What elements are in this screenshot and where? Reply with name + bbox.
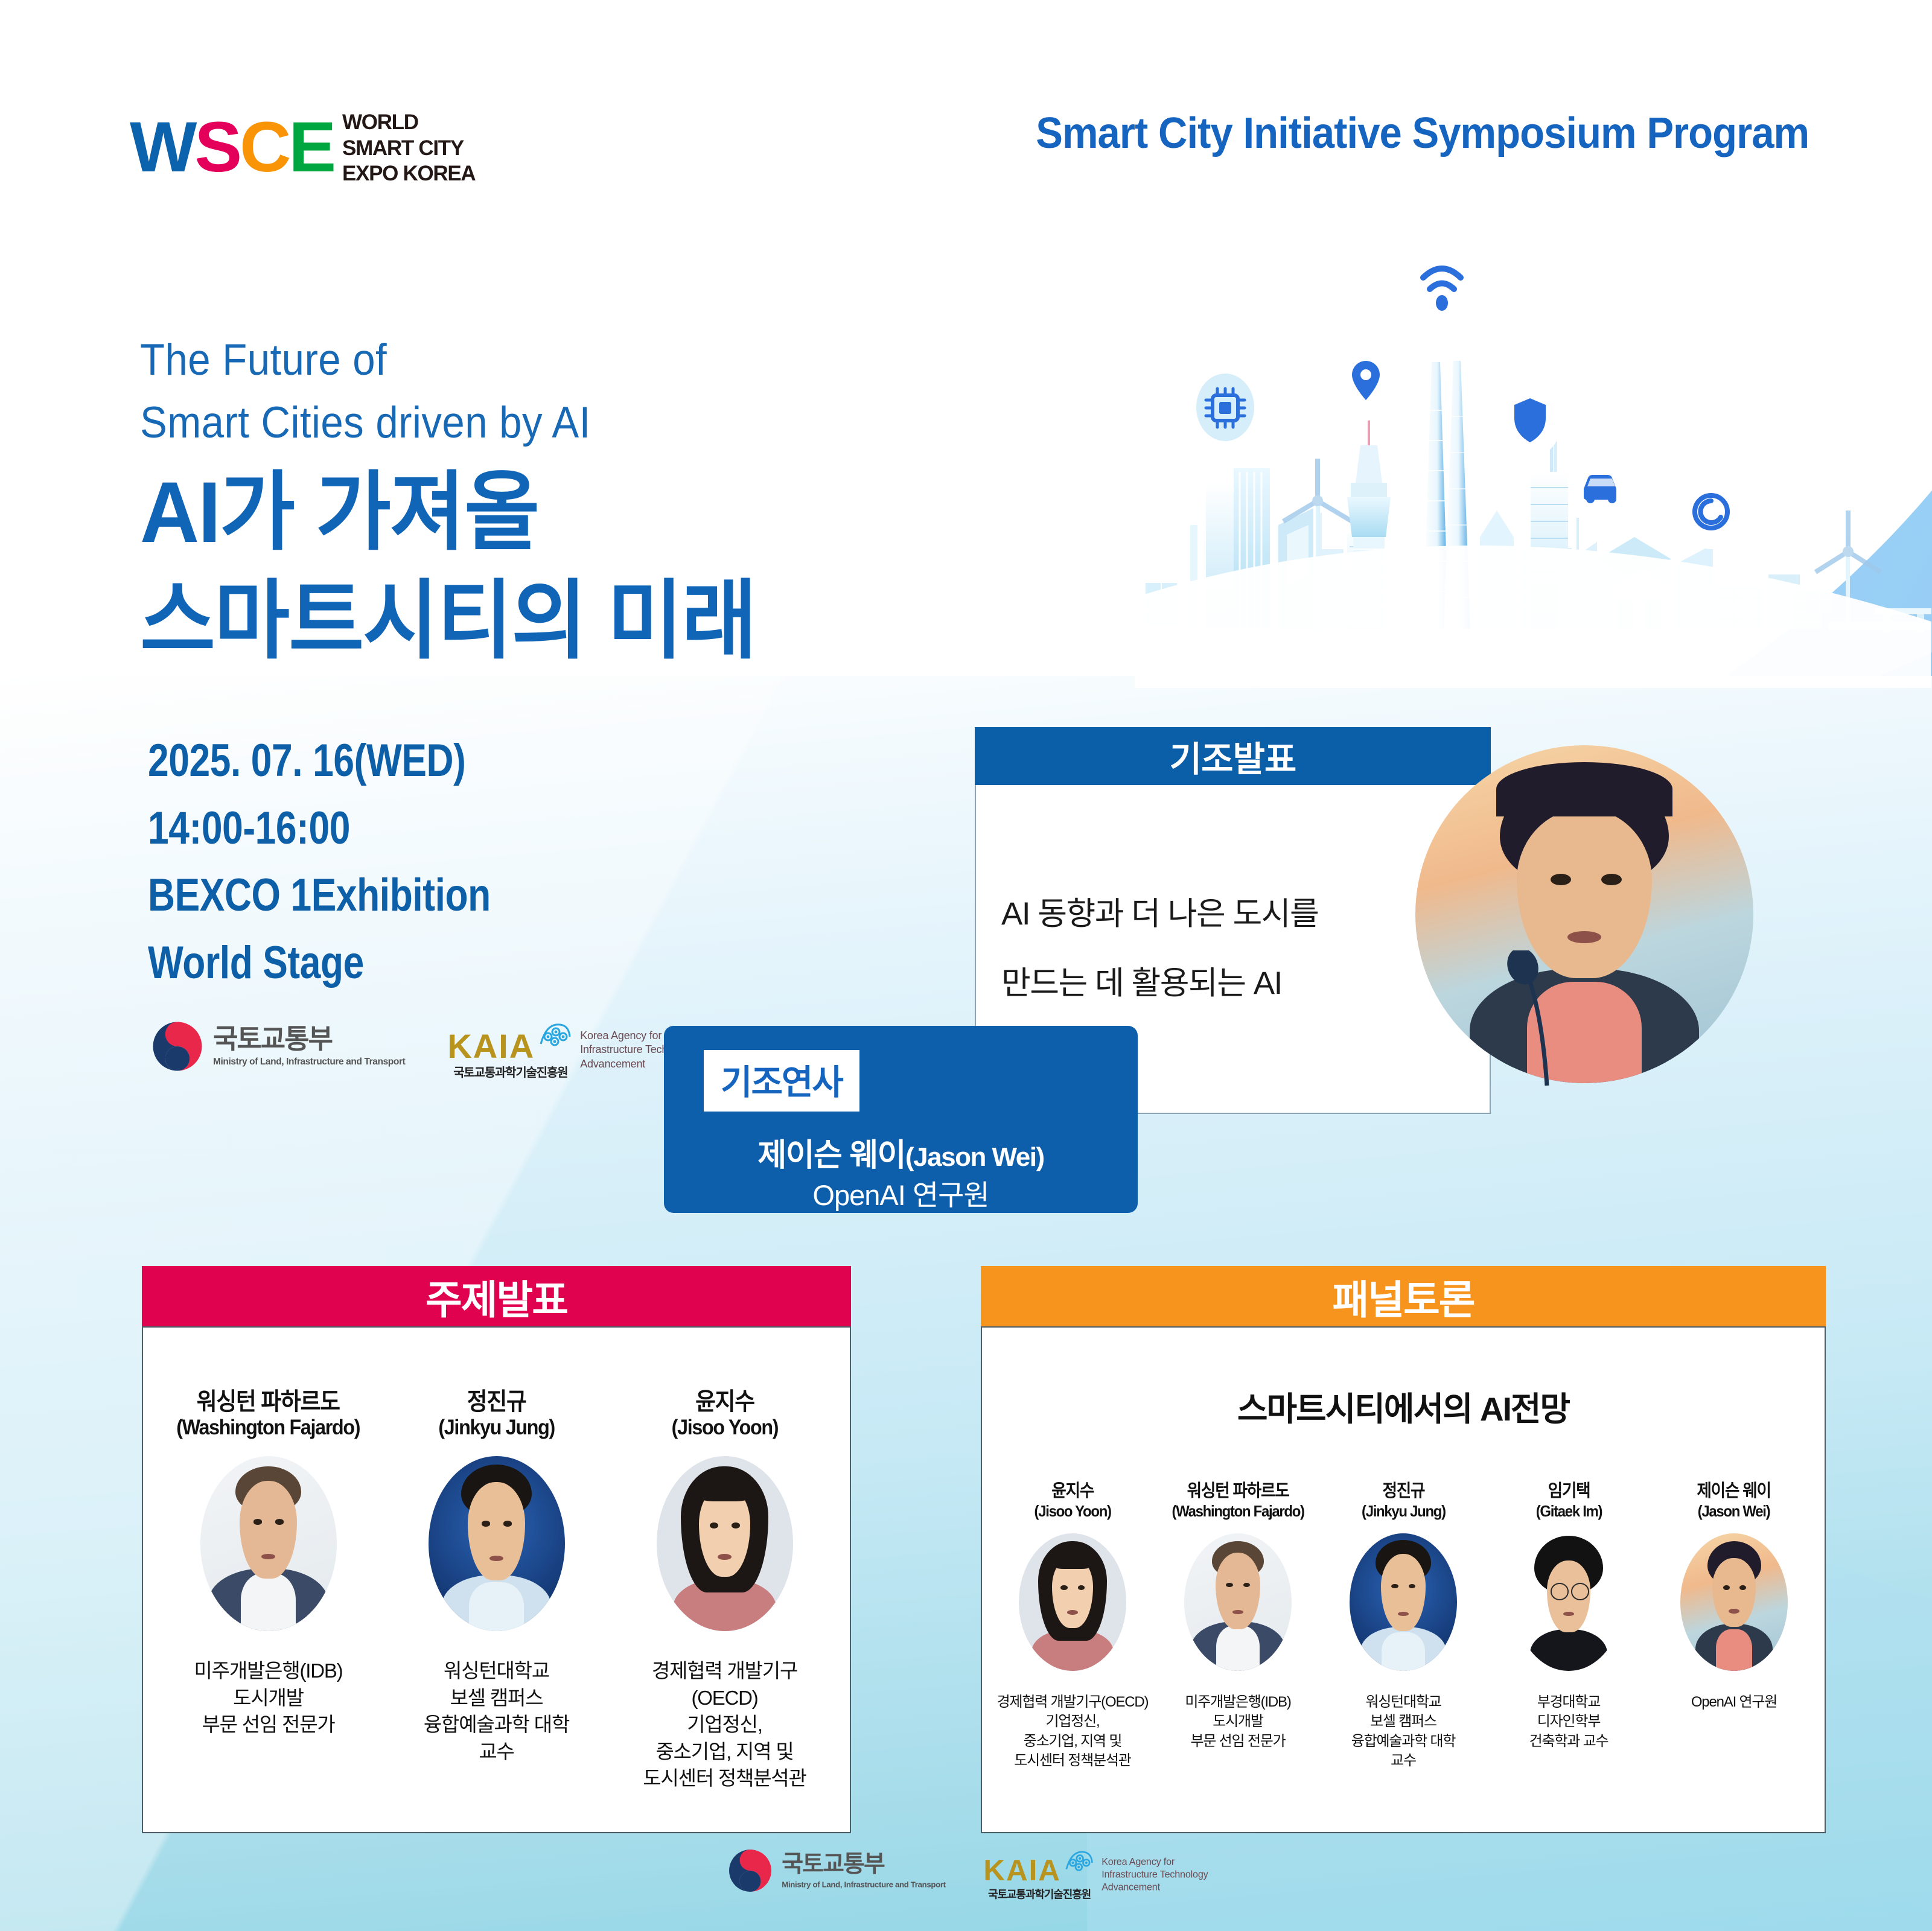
taegeuk-icon (727, 1848, 773, 1894)
panelist-photo (1184, 1533, 1292, 1671)
logo-word-smartcity: SMART CITY (342, 136, 475, 162)
panelist-photo (1350, 1533, 1457, 1671)
keynote-topic-line2: 만드는 데 활용되는 AI (1001, 966, 1464, 1001)
panelist-name: 임기택 (Gitaek Im) (1535, 1481, 1601, 1520)
banner-title: Smart City Initiative Symposium Program (1036, 109, 1809, 158)
speaker-name-en: (Jinkyu Jung) (438, 1416, 555, 1440)
panelist-name-ko: 워싱턴 파하르도 (1187, 1481, 1289, 1501)
topic-session-header: 주제발표 (142, 1266, 851, 1328)
speaker-name: 워싱턴 파하르도 (Washington Fajardo) (177, 1388, 360, 1440)
logo-letter-w: W (130, 115, 194, 180)
kaia-name-ko: 국토교통과학기술진흥원 (988, 1886, 1091, 1902)
logo-letter-c: C (240, 115, 289, 180)
keynote-header-label: 기조발표 (1170, 731, 1296, 781)
sponsor-logos-footer: 국토교통부 Ministry of Land, Infrastructure a… (727, 1848, 1208, 1901)
panelist-name-en: (Washington Fajardo) (1172, 1502, 1304, 1520)
wsce-logo-wordmark: WORLD SMART CITY EXPO KOREA (342, 107, 475, 187)
panelist-name-ko: 윤지수 (1051, 1481, 1094, 1501)
kaia-mark: KAIA 국토교통과학기술진흥원 (447, 1020, 573, 1080)
smart-city-illustration (1135, 199, 1931, 688)
panelist-entry: 워싱턴 파하르도 (Washington Fajardo) 미주개발은행(IDB… (1158, 1481, 1318, 1751)
logo-word-expokorea: EXPO KOREA (342, 161, 475, 187)
keynote-speaker-photo (1415, 745, 1753, 1083)
speaker-photo (657, 1456, 793, 1631)
panelist-org: 워싱턴대학교 보셀 캠퍼스 융합예술과학 대학 교수 (1351, 1693, 1456, 1771)
location-pin-icon (1333, 340, 1399, 421)
keynote-header: 기조발표 (975, 727, 1491, 785)
panelist-name: 제이슨 웨이 (Jason Wei) (1697, 1481, 1771, 1520)
panel-session-subtitle: 스마트시티에서의 AI전망 (981, 1382, 1826, 1430)
hero-subtitle: The Future of Smart Cities driven by AI (140, 329, 591, 454)
panelist-photo (1515, 1533, 1622, 1671)
program-banner: Smart City Initiative Symposium Program (928, 95, 1917, 171)
speaker-org: 워싱턴대학교 보셀 캠퍼스 융합예술과학 대학 교수 (424, 1658, 569, 1765)
speaker-name-ko: 워싱턴 파하르도 (197, 1389, 340, 1415)
keynote-speaker-tag-label: 기조연사 (721, 1063, 843, 1102)
topic-speakers-row: 워싱턴 파하르도 (Washington Fajardo) 미주개발은행(IDB… (148, 1388, 845, 1792)
speaker-name-ko: 정진규 (467, 1389, 526, 1415)
logo-letter-e: E (289, 115, 334, 180)
panelist-org: 경제협력 개발기구(OECD) 기업정신, 중소기업, 지역 및 도시센터 정책… (997, 1693, 1149, 1771)
panelist-entry: 임기택 (Gitaek Im) 부경대학교 디자인학부 건축학과 교수 (1489, 1481, 1648, 1751)
panelist-name: 정진규 (Jinkyu Jung) (1362, 1481, 1446, 1520)
speaker-name: 정진규 (Jinkyu Jung) (438, 1388, 555, 1440)
molit-logo: 국토교통부 Ministry of Land, Infrastructure a… (151, 1020, 405, 1073)
panelist-org: OpenAI 연구원 (1691, 1693, 1777, 1712)
speaker-name-ko: 윤지수 (695, 1389, 754, 1415)
topic-session-header-label: 주제발표 (426, 1268, 567, 1326)
kaia-emblem-icon (1062, 1848, 1095, 1881)
panelist-name-ko: 정진규 (1382, 1481, 1424, 1501)
keynote-speaker-name: 제이슨 웨이(Jason Wei) (664, 1130, 1138, 1175)
speaker-org: 경제협력 개발기구(OECD) 기업정신, 중소기업, 지역 및 도시센터 정책… (619, 1658, 831, 1792)
keynote-topic-line1: AI 동향과 더 나은 도시를 (1001, 897, 1464, 932)
panelist-name: 윤지수 (Jisoo Yoon) (1034, 1481, 1111, 1520)
panelist-name-ko: 제이슨 웨이 (1697, 1481, 1771, 1501)
kaia-mark: KAIA 국토교통과학기술진흥원 (983, 1848, 1095, 1901)
panelist-entry: 윤지수 (Jisoo Yoon) 경제협력 개발기구(OECD) 기업정신, 중… (993, 1481, 1152, 1770)
speaker-name-en: (Jisoo Yoon) (671, 1416, 778, 1440)
wifi-icon (1408, 241, 1476, 326)
hero-title: AI가 가져올 스마트시티의 미래 (140, 459, 756, 676)
event-date: 2025. 07. 16(WED) (148, 727, 491, 795)
panelist-name: 워싱턴 파하르도 (Washington Fajardo) (1172, 1481, 1304, 1520)
kaia-wordmark-row: KAIA (983, 1848, 1095, 1885)
molit-name-en: Ministry of Land, Infrastructure and Tra… (213, 1057, 405, 1067)
molit-name-en: Ministry of Land, Infrastructure and Tra… (782, 1880, 945, 1889)
kaia-logo-footer: KAIA 국토교통과학기술진흥원 Korea Agency for Infras… (983, 1848, 1208, 1901)
speaker-name-en: (Washington Fajardo) (177, 1416, 360, 1440)
kaia-wordmark-row: KAIA (447, 1020, 573, 1061)
kaia-logo: KAIA 국토교통과학기술진흥원 Korea Agency for Infras… (447, 1020, 699, 1080)
wsce-logo-letters: W S C E (130, 115, 334, 180)
taegeuk-icon (151, 1020, 204, 1073)
molit-text-footer: 국토교통부 Ministry of Land, Infrastructure a… (782, 1853, 945, 1889)
kaia-en-line2: Infrastructure Technology (1101, 1868, 1208, 1881)
spiral-icon (1682, 477, 1740, 549)
hero-subtitle-line2: Smart Cities driven by AI (140, 392, 591, 454)
kaia-wordmark: KAIA (447, 1031, 535, 1061)
kaia-name-en: Korea Agency for Infrastructure Technolo… (1101, 1856, 1208, 1894)
molit-name-ko: 국토교통부 (782, 1853, 945, 1876)
panelist-entry: 정진규 (Jinkyu Jung) 워싱턴대학교 보셀 캠퍼스 융합예술과학 대… (1324, 1481, 1483, 1770)
logo-word-world: WORLD (342, 110, 475, 136)
panel-session-header: 패널토론 (981, 1266, 1826, 1328)
panelist-org: 미주개발은행(IDB) 도시개발 부문 선임 전문가 (1185, 1693, 1290, 1751)
panelist-photo (1019, 1533, 1126, 1671)
event-venue-line1: BEXCO 1Exhibition (148, 862, 491, 929)
car-icon (1571, 450, 1631, 525)
kaia-wordmark: KAIA (983, 1858, 1060, 1884)
panelist-name-ko: 임기택 (1548, 1481, 1590, 1501)
speaker-entry: 정진규 (Jinkyu Jung) 워싱턴대학교 보셀 캠퍼스 융합예술과학 대… (391, 1388, 602, 1765)
panelist-name-en: (Jisoo Yoon) (1034, 1502, 1111, 1520)
molit-name-ko: 국토교통부 (213, 1025, 405, 1052)
molit-text: 국토교통부 Ministry of Land, Infrastructure a… (213, 1025, 405, 1067)
keynote-speaker-card: 기조연사 제이슨 웨이(Jason Wei) OpenAI 연구원 (664, 1026, 1138, 1213)
shield-icon (1497, 378, 1563, 458)
kaia-en-line1: Korea Agency for (1101, 1856, 1208, 1868)
hero-title-line2: 스마트시티의 미래 (140, 567, 756, 676)
hero-title-line1: AI가 가져올 (140, 459, 756, 567)
panelists-row: 윤지수 (Jisoo Yoon) 경제협력 개발기구(OECD) 기업정신, 중… (987, 1481, 1820, 1770)
kaia-emblem-icon (536, 1020, 573, 1057)
keynote-speaker-tag: 기조연사 (704, 1050, 859, 1112)
panel-session-header-label: 패널토론 (1333, 1268, 1475, 1326)
panelist-name-en: (Jinkyu Jung) (1362, 1502, 1446, 1520)
kaia-en-line3: Advancement (1101, 1881, 1208, 1894)
speaker-photo (429, 1456, 565, 1631)
panelist-entry: 제이슨 웨이 (Jason Wei) OpenAI 연구원 (1654, 1481, 1814, 1712)
event-time: 14:00-16:00 (148, 795, 491, 862)
sponsor-logos-top: 국토교통부 Ministry of Land, Infrastructure a… (151, 1020, 699, 1080)
keynote-speaker-name-en: (Jason Wei) (905, 1142, 1044, 1172)
speaker-org: 미주개발은행(IDB) 도시개발 부문 선임 전문가 (194, 1658, 343, 1739)
wsce-logo: W S C E WORLD SMART CITY EXPO KOREA (130, 107, 475, 187)
speaker-entry: 워싱턴 파하르도 (Washington Fajardo) 미주개발은행(IDB… (163, 1388, 374, 1739)
molit-logo-footer: 국토교통부 Ministry of Land, Infrastructure a… (727, 1848, 946, 1894)
panelist-name-en: (Jason Wei) (1697, 1502, 1771, 1520)
speaker-name: 윤지수 (Jisoo Yoon) (671, 1388, 778, 1440)
kaia-name-ko: 국토교통과학기술진흥원 (453, 1063, 567, 1080)
speaker-entry: 윤지수 (Jisoo Yoon) 경제협력 개발기구(OECD) 기업정신, 중… (619, 1388, 831, 1792)
speaker-photo (200, 1456, 337, 1631)
event-venue-line2: World Stage (148, 929, 491, 997)
logo-letter-s: S (194, 115, 240, 180)
panelist-org: 부경대학교 디자인학부 건축학과 교수 (1529, 1693, 1608, 1751)
event-info: 2025. 07. 16(WED) 14:00-16:00 BEXCO 1Exh… (148, 727, 491, 997)
chip-icon (1196, 374, 1254, 441)
panelist-name-en: (Gitaek Im) (1535, 1502, 1601, 1520)
keynote-speaker-name-ko: 제이슨 웨이 (757, 1138, 905, 1173)
keynote-speaker-org: OpenAI 연구원 (664, 1172, 1138, 1214)
hero-subtitle-line1: The Future of (140, 329, 591, 392)
panelist-photo (1680, 1533, 1788, 1671)
